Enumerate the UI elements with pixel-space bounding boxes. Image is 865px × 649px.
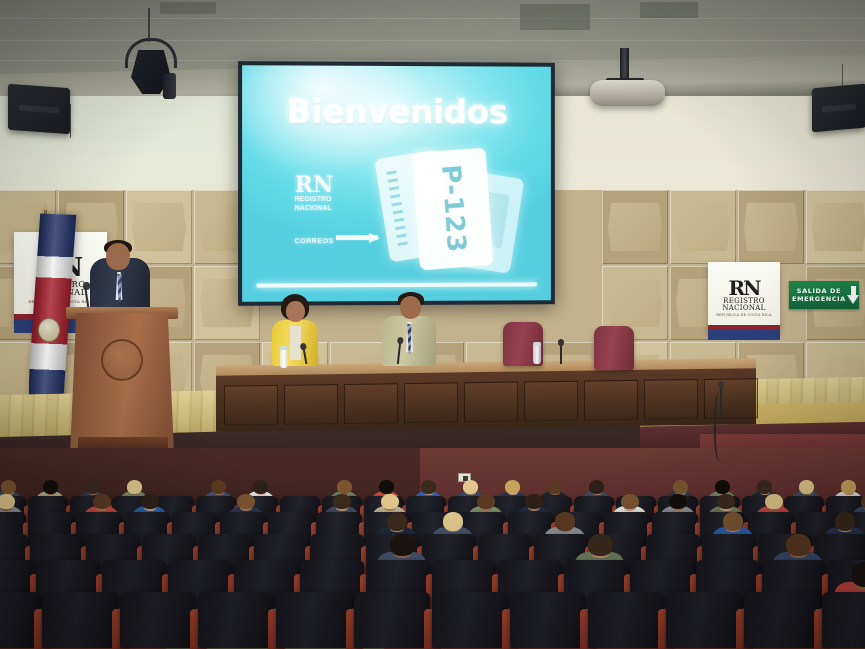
banner-right-stripe-blue: [708, 330, 780, 340]
audience-member-head: [835, 512, 856, 530]
table-front-panel: [704, 378, 758, 419]
table-microphone-3: [560, 344, 562, 364]
ceiling-speaker-right: [812, 84, 865, 133]
arrow-icon: [336, 235, 378, 240]
water-bottle-1[interactable]: [280, 346, 288, 368]
audience-member-head: [525, 494, 542, 510]
ceiling-projector: [590, 80, 665, 106]
audience-member-head: [0, 494, 15, 510]
podium-seal: [101, 339, 143, 381]
auditorium-seat[interactable]: [354, 592, 430, 648]
panelist-light-suit: [382, 316, 436, 366]
wall-panel: [806, 190, 865, 264]
audience-member-head: [443, 512, 464, 530]
wall-panel: [126, 190, 192, 264]
projection-screen-surface: Bienvenidos RN REGISTRO NACIONAL CORREOS…: [242, 65, 551, 302]
slide-headline: Bienvenidos: [242, 91, 551, 131]
ceiling-speaker-left: [8, 84, 70, 134]
slide-rn-mark: RN: [295, 176, 334, 196]
audience-member-head: [765, 494, 782, 510]
banner-right-sub: REPUBLICA DE COSTA RICA: [716, 314, 771, 317]
table-front-panel: [464, 382, 518, 423]
arrow-down-icon: [846, 285, 856, 305]
panelist-inner-top: [290, 326, 301, 360]
auditorium-seat[interactable]: [120, 592, 196, 648]
floor-cable: [714, 392, 728, 462]
auditorium-seat[interactable]: [198, 592, 274, 648]
audience-member-head: [337, 480, 352, 494]
license-plate-number: P-123: [435, 164, 471, 254]
table-front-panel: [284, 384, 338, 425]
audience-member-head: [141, 494, 158, 510]
audience-member-head: [841, 480, 856, 494]
audience-member-head: [387, 512, 408, 530]
panelist-yellow-blazer: [272, 320, 318, 366]
slide-correos-logo: CORREOS: [295, 238, 378, 245]
auditorium-seat[interactable]: [822, 592, 865, 648]
speaker-wire-right: [842, 64, 843, 88]
audience-member-head: [477, 494, 494, 510]
exit-sign-line2: EMERGENCIA: [792, 295, 846, 303]
wall-panel: [738, 190, 804, 264]
audience-member-head: [757, 480, 772, 494]
audience-member-head: [85, 480, 100, 494]
license-plate-front: P-123: [412, 148, 494, 271]
audience-member-head: [381, 494, 398, 510]
audience-member-head: [621, 494, 638, 510]
audience-member-head: [1, 480, 16, 494]
audience-member-head: [93, 494, 110, 510]
slide-registro-nacional-logo: RN REGISTRO NACIONAL: [295, 176, 334, 213]
auditorium-seat[interactable]: [42, 592, 118, 648]
audience-member-head: [211, 480, 226, 494]
audience-member-head: [715, 480, 730, 494]
audience-member-head: [390, 534, 414, 556]
table-front-panel: [644, 379, 698, 420]
speaker-wire-left: [70, 104, 71, 138]
auditorium-seat[interactable]: [432, 592, 508, 648]
emergency-exit-sign: SALIDA DE EMERGENCIA: [789, 281, 859, 309]
table-front-panel: [524, 381, 578, 422]
audience-member-head: [333, 494, 350, 510]
slide-license-plates: P-123: [378, 148, 542, 288]
water-bottle-2[interactable]: [533, 342, 541, 364]
podium: [70, 313, 174, 453]
table-front-panel: [404, 382, 458, 423]
audience-member-head: [421, 480, 436, 494]
audience-member-head: [589, 480, 604, 494]
panelist-head: [400, 296, 421, 319]
audience-member-head: [555, 512, 576, 530]
auditorium-seat[interactable]: [666, 592, 742, 648]
panelist-head: [286, 301, 305, 322]
audience-member-head: [673, 480, 688, 494]
audience-member-head: [717, 494, 734, 510]
exit-sign-line1: SALIDA DE: [797, 287, 841, 295]
slide-rn-line1: REGISTRO: [295, 196, 332, 203]
audience-member-head: [463, 480, 478, 494]
audience-member-head: [379, 480, 394, 494]
table-front-panel: [344, 383, 398, 424]
audience-member-head: [799, 480, 814, 494]
audience-member-head: [237, 494, 254, 510]
spotlight-cable: [148, 8, 150, 42]
audience-member-head: [588, 534, 612, 556]
audience-member-head: [253, 480, 268, 494]
slide-rn-line2: NACIONAL: [295, 205, 332, 212]
speaker-head: [106, 243, 130, 270]
banner-right-line2: NACIONAL: [716, 305, 771, 312]
auditorium-seat[interactable]: [588, 592, 664, 648]
auditorium-seat[interactable]: [276, 592, 352, 648]
banner-registro-nacional-right: RN REGISTRO NACIONAL REPUBLICA DE COSTA …: [708, 262, 780, 334]
spotlight-barrel: [163, 73, 176, 99]
audience-member-head: [547, 480, 562, 494]
wall-panel: [670, 190, 736, 264]
auditorium-scene: Bienvenidos RN REGISTRO NACIONAL CORREOS…: [0, 0, 865, 649]
audience-member-head: [43, 480, 58, 494]
empty-chair-2[interactable]: [594, 326, 634, 370]
audience-member-head: [723, 512, 744, 530]
audience-member-head: [669, 494, 686, 510]
audience-member-head: [505, 480, 520, 494]
slide-correos-text: CORREOS: [295, 238, 334, 245]
wall-panel: [602, 190, 668, 264]
table-front-panel: [584, 380, 638, 421]
table-front-panel: [224, 385, 278, 426]
audience-member-head: [786, 534, 810, 556]
head-table-front: [216, 368, 756, 432]
auditorium-seat[interactable]: [744, 592, 820, 648]
audience-member-head: [127, 480, 142, 494]
banner-right-mark: RN: [716, 278, 771, 298]
auditorium-seat[interactable]: [510, 592, 586, 648]
projection-screen: Bienvenidos RN REGISTRO NACIONAL CORREOS…: [238, 61, 555, 306]
